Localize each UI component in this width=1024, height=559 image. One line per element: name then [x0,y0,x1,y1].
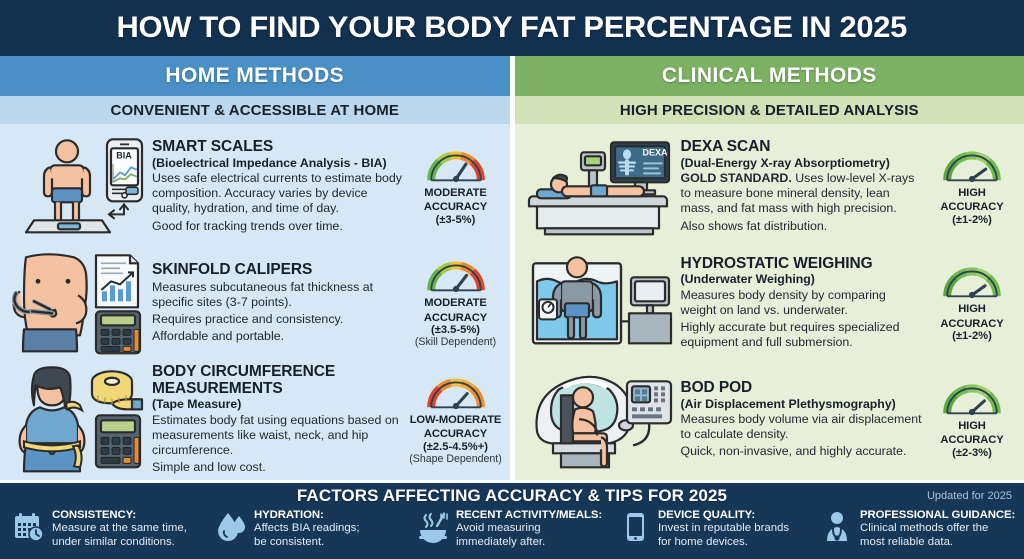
gauge-icon [425,374,487,412]
method-subtitle: (Air Displacement Plethysmography) [681,397,923,412]
tip-heading: HYDRATION: [254,509,360,522]
gauge-label-line2: ACCURACY [424,428,487,441]
method-title: DEXA SCAN [681,139,923,156]
gauge-label-line2: ACCURACY [424,312,487,325]
gauge-label-line2: ACCURACY [940,434,1003,447]
gauge-note: (Skill Dependent) [415,337,496,349]
tip-line-1: Avoid measuring [456,522,602,536]
method-subtitle: (Bioelectrical Impedance Analysis - BIA) [152,156,404,171]
gauge-label-line2: ACCURACY [940,201,1003,214]
tip-line-2: under similar conditions. [52,536,187,550]
calendar-clock-icon [12,508,46,546]
tip-item: HYDRATION: Affects BIA readings; be cons… [210,508,410,550]
accuracy-gauge: HIGH ACCURACY (±2-3%) [926,380,1018,460]
clinical-column-subheading: HIGH PRECISION & DETAILED ANALYSIS [515,96,1024,124]
gauge-label-line1: HIGH [958,187,986,200]
method-extra: Simple and low cost. [152,460,404,475]
method-row: BIA [0,128,510,245]
gauge-label-line1: HIGH [958,303,986,316]
meal-bowl-icon [416,508,450,546]
home-subheading-label: CONVENIENT & ACCESSIBLE AT HOME [111,102,399,119]
gauge-label-line2: ACCURACY [940,318,1003,331]
tip-line-2: most reliable data. [860,536,1015,550]
methods-body: BIA [0,124,1024,480]
tip-line-2: for home devices. [658,536,789,550]
method-description-lead: GOLD STANDARD. [681,171,792,185]
title-bar: HOW TO FIND YOUR BODY FAT PERCENTAGE IN … [0,0,1024,56]
gauge-range: (±1-2%) [952,214,992,227]
page-title: HOW TO FIND YOUR BODY FAT PERCENTAGE IN … [117,11,908,45]
method-text: HYDROSTATIC WEIGHING (Underwater Weighin… [675,256,927,351]
tip-line-1: Measure at the same time, [52,522,187,536]
home-column-heading: HOME METHODS [0,56,510,96]
column-heading-row: HOME METHODS CLINICAL METHODS [0,56,1024,96]
tape-measure-illustration [8,363,146,476]
method-extra: Good for tracking trends over time. [152,219,404,234]
method-extra: Quick, non-invasive, and highly accurate… [681,444,923,459]
home-heading-label: HOME METHODS [165,64,344,88]
method-extra: Requires practice and consistency. [152,312,404,327]
tip-heading: CONSISTENCY: [52,509,187,522]
tip-item: RECENT ACTIVITY/MEALS: Avoid measuring i… [412,508,612,550]
smart-scale-illustration: BIA [8,130,146,243]
tip-item: CONSISTENCY: Measure at the same time, u… [8,508,208,550]
bod-pod-illustration [523,363,675,476]
monitor-screen-label: DEXA [642,147,668,157]
tips-row: CONSISTENCY: Measure at the same time, u… [0,506,1024,550]
clinical-heading-label: CLINICAL METHODS [662,64,877,88]
method-description: Uses safe electrical currents to estimat… [152,171,404,216]
method-text: BOD POD (Air Displacement Plethysmograph… [675,380,927,459]
gauge-range: (±2.5-4.5%+) [423,441,488,454]
footer-title: FACTORS AFFECTING ACCURACY & TIPS FOR 20… [0,483,1024,506]
method-subtitle: (Underwater Weighing) [681,272,923,287]
smartphone-icon [618,508,652,546]
gauge-range: (±1-2%) [952,330,992,343]
accuracy-gauge: MODERATE ACCURACY (±3-5%) [408,147,504,227]
hydrostatic-weighing-illustration [523,247,675,360]
home-methods-column: BIA [0,124,510,480]
column-subheading-row: CONVENIENT & ACCESSIBLE AT HOME HIGH PRE… [0,96,1024,124]
tip-line-1: Invest in reputable brands [658,522,789,536]
method-text: DEXA SCAN (Dual-Energy X-ray Absorptiome… [675,139,927,234]
method-text: SMART SCALES (Bioelectrical Impedance An… [146,139,408,234]
tip-heading: PROFESSIONAL GUIDANCE: [860,509,1015,522]
accuracy-gauge: MODERATE ACCURACY (±3.5-5%) (Skill Depen… [408,257,504,349]
tip-line-2: immediately after. [456,536,602,550]
gauge-label-line1: MODERATE [424,297,486,310]
updated-badge: Updated for 2025 [927,490,1012,502]
gauge-label-line1: HIGH [958,420,986,433]
gauge-label-line2: ACCURACY [424,201,487,214]
gauge-label-line1: LOW-MODERATE [410,414,502,427]
gauge-icon [941,380,1003,418]
phone-screen-label: BIA [116,150,132,160]
clinical-methods-column: DEXA [515,124,1024,480]
method-description: Measures body volume via air displacemen… [681,412,923,442]
method-description: Estimates body fat using equations based… [152,413,404,458]
gauge-range: (±3.5-5%) [431,324,480,337]
accuracy-gauge: HIGH ACCURACY (±1-2%) [926,147,1018,227]
gauge-range: (±3-5%) [436,214,476,227]
method-row: HYDROSTATIC WEIGHING (Underwater Weighin… [515,245,1024,362]
tip-text: CONSISTENCY: Measure at the same time, u… [52,508,187,550]
tip-line-1: Clinical methods offer the [860,522,1015,536]
tip-heading: RECENT ACTIVITY/MEALS: [456,509,602,522]
tip-line-1: Affects BIA readings; [254,522,360,536]
gauge-icon [941,147,1003,185]
accuracy-gauge: HIGH ACCURACY (±1-2%) [926,263,1018,343]
gauge-icon [425,257,487,295]
method-subtitle: (Dual-Energy X-ray Absorptiometry) [681,156,923,171]
clinical-column-heading: CLINICAL METHODS [515,56,1024,96]
clinical-subheading-label: HIGH PRECISION & DETAILED ANALYSIS [620,102,919,119]
gauge-note: (Shape Dependent) [409,454,501,466]
gauge-range: (±2-3%) [952,447,992,460]
method-title: SKINFOLD CALIPERS [152,262,404,279]
tip-line-2: be consistent. [254,536,360,550]
method-description: Measures body density by comparing weigh… [681,288,923,318]
footer: FACTORS AFFECTING ACCURACY & TIPS FOR 20… [0,480,1024,559]
tip-text: PROFESSIONAL GUIDANCE: Clinical methods … [860,508,1015,550]
method-extra: Highly accurate but requires specialized… [681,320,923,350]
method-extra: Also shows fat distribution. [681,219,923,234]
tip-text: DEVICE QUALITY: Invest in reputable bran… [658,508,789,550]
method-title: SMART SCALES [152,139,404,156]
method-description: Measures subcutaneous fat thickness at s… [152,280,404,310]
method-row: DEXA [515,128,1024,245]
tip-text: HYDRATION: Affects BIA readings; be cons… [254,508,360,550]
method-title: BODY CIRCUMFERENCE MEASUREMENTS [152,364,404,397]
method-extra-2: Affordable and portable. [152,329,404,344]
water-drop-icon [214,508,248,546]
method-text: SKINFOLD CALIPERS Measures subcutaneous … [146,262,408,344]
home-column-subheading: CONVENIENT & ACCESSIBLE AT HOME [0,96,510,124]
gauge-icon [425,147,487,185]
method-row: SKINFOLD CALIPERS Measures subcutaneous … [0,245,510,362]
method-row: BODY CIRCUMFERENCE MEASUREMENTS (Tape Me… [0,361,510,478]
method-description: GOLD STANDARD. Uses low-level X-rays to … [681,171,923,216]
infographic-poster: HOW TO FIND YOUR BODY FAT PERCENTAGE IN … [0,0,1024,559]
tip-item: PROFESSIONAL GUIDANCE: Clinical methods … [816,508,1016,550]
method-title: HYDROSTATIC WEIGHING [681,256,923,273]
method-row: BOD POD (Air Displacement Plethysmograph… [515,361,1024,478]
method-subtitle: (Tape Measure) [152,397,404,412]
method-title: BOD POD [681,380,923,397]
gauge-label-line1: MODERATE [424,187,486,200]
accuracy-gauge: LOW-MODERATE ACCURACY (±2.5-4.5%+) (Shap… [408,374,504,466]
tip-item: DEVICE QUALITY: Invest in reputable bran… [614,508,814,550]
skinfold-caliper-illustration [8,247,146,360]
tip-text: RECENT ACTIVITY/MEALS: Avoid measuring i… [456,508,602,550]
tip-heading: DEVICE QUALITY: [658,509,789,522]
method-text: BODY CIRCUMFERENCE MEASUREMENTS (Tape Me… [146,364,408,475]
gauge-icon [941,263,1003,301]
dexa-scan-illustration: DEXA [523,130,675,243]
doctor-icon [820,508,854,546]
